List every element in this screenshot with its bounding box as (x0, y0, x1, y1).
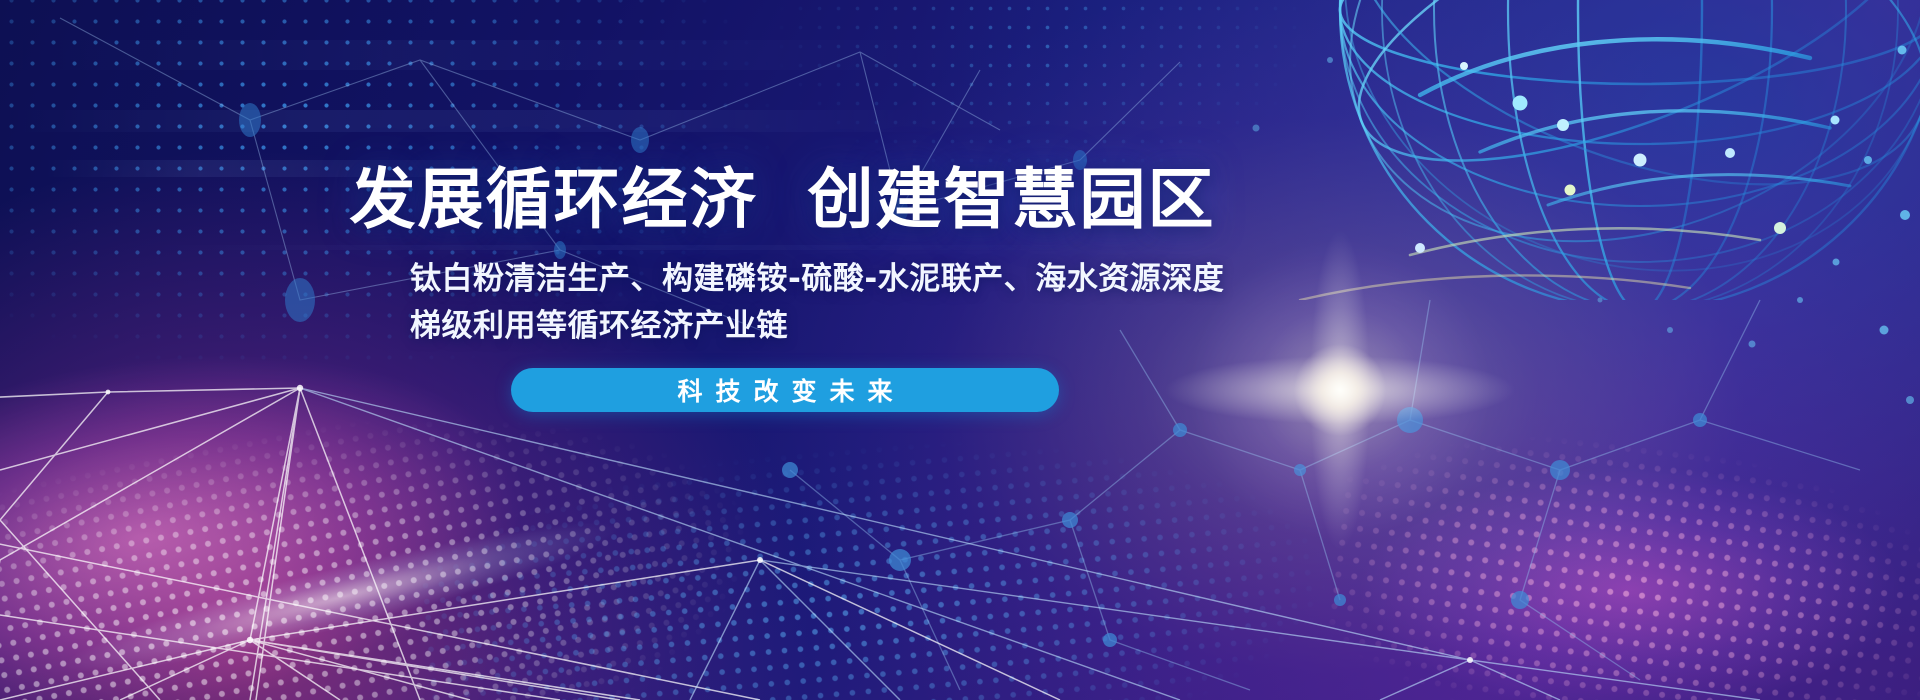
slogan-pill-button[interactable]: 科技改变未来 (511, 368, 1059, 412)
hero-content: 发展循环经济 创建智慧园区 钛白粉清洁生产、构建磷铵-硫酸-水泥联产、海水资源深… (0, 0, 1920, 700)
hero-banner: 发展循环经济 创建智慧园区 钛白粉清洁生产、构建磷铵-硫酸-水泥联产、海水资源深… (0, 0, 1920, 700)
page-title: 发展循环经济 创建智慧园区 (0, 164, 1565, 235)
slogan-pill-label: 科技改变未来 (664, 372, 905, 408)
hero-subtitle-line-2: 梯级利用等循环经济产业链 (410, 303, 1200, 350)
hero-subtitle: 钛白粉清洁生产、构建磷铵-硫酸-水泥联产、海水资源深度 梯级利用等循环经济产业链 (410, 256, 1200, 350)
hero-subtitle-line-1: 钛白粉清洁生产、构建磷铵-硫酸-水泥联产、海水资源深度 (410, 256, 1200, 303)
